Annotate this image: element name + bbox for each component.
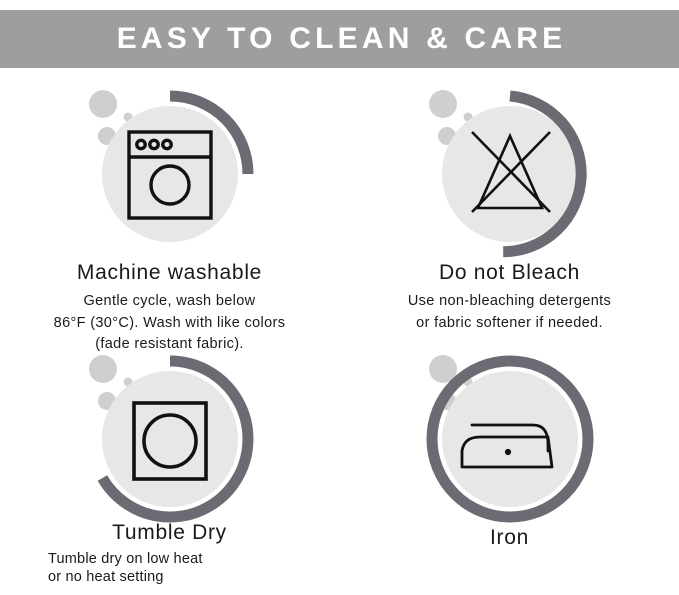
care-description-line: or fabric softener if needed.: [352, 313, 667, 334]
care-description-line: 86°F (30°C). Wash with like colors: [12, 313, 327, 334]
text-block-tumble-dry: Tumble Dry Tumble dry on low heat or no …: [0, 521, 339, 587]
care-description-line: Use non-bleaching detergents: [352, 291, 667, 312]
bubble-large-icon: [89, 90, 117, 118]
badge-iron: [420, 345, 600, 525]
header-banner: EASY TO CLEAN & CARE: [0, 10, 679, 68]
badge-graphic-machine-washable: [80, 80, 260, 260]
badge-graphic-do-not-bleach: [420, 80, 600, 260]
text-block-do-not-bleach: Do not Bleach Use non-bleaching detergen…: [340, 261, 679, 334]
care-description: Use non-bleaching detergents or fabric s…: [352, 291, 667, 334]
badge-tumble-dry: [80, 345, 260, 525]
bubble-large-icon: [89, 355, 117, 383]
badge-graphic-iron: [420, 345, 600, 525]
badge-graphic-tumble-dry: [80, 345, 260, 525]
care-card-tumble-dry: Tumble Dry Tumble dry on low heat or no …: [0, 333, 339, 595]
bubble-large-icon: [429, 90, 457, 118]
care-title: Tumble Dry: [12, 521, 327, 545]
care-description-line: or no heat setting: [48, 569, 327, 587]
care-card-grid: Machine washable Gentle cycle, wash belo…: [0, 68, 679, 593]
care-title: Do not Bleach: [352, 261, 667, 285]
care-title: Machine washable: [12, 261, 327, 285]
care-description-line: Tumble dry on low heat: [48, 551, 327, 569]
care-card-machine-washable: Machine washable Gentle cycle, wash belo…: [0, 68, 339, 330]
care-card-do-not-bleach: Do not Bleach Use non-bleaching detergen…: [340, 68, 679, 330]
care-description-line: Gentle cycle, wash below: [12, 291, 327, 312]
text-block-iron: Iron: [340, 526, 679, 556]
header-banner-background: EASY TO CLEAN & CARE: [0, 10, 679, 68]
care-title: Iron: [352, 526, 667, 550]
care-instructions-infographic: { "header": { "title": "EASY TO CLEAN & …: [0, 0, 679, 593]
care-card-iron: Iron: [340, 333, 679, 595]
badge-disc: [102, 106, 238, 242]
badge-disc: [442, 371, 578, 507]
care-description: Tumble dry on low heat or no heat settin…: [12, 551, 327, 586]
badge-machine-washable: [80, 80, 260, 260]
badge-do-not-bleach: [420, 80, 600, 260]
page-title: EASY TO CLEAN & CARE: [113, 24, 567, 54]
badge-disc: [102, 371, 238, 507]
